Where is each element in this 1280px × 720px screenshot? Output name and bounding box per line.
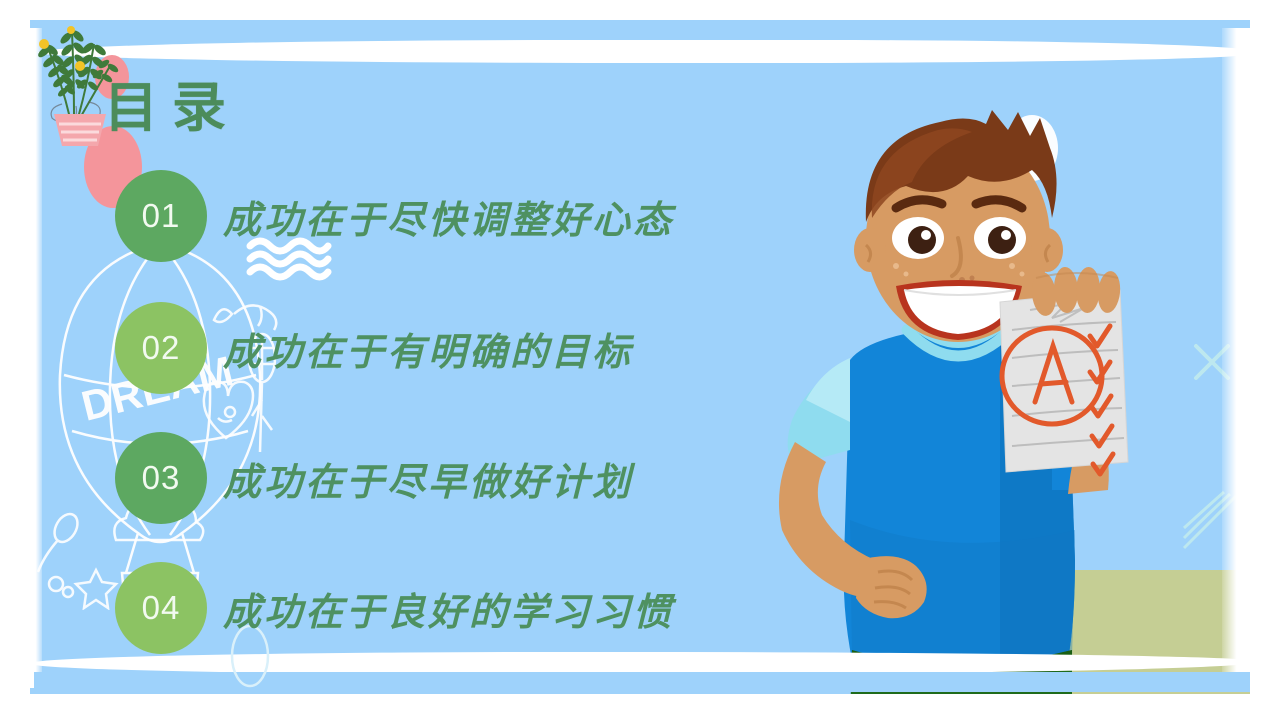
border-right-brush bbox=[1222, 28, 1252, 690]
toc-label-01: 成功在于尽快调整好心态 bbox=[223, 189, 674, 244]
toc-number-badge-03: 03 bbox=[115, 432, 207, 524]
border-top-brush bbox=[38, 40, 1253, 63]
border-right bbox=[1250, 0, 1280, 720]
toc-item-01[interactable]: 01 成功在于尽快调整好心态 bbox=[115, 170, 674, 262]
toc-item-04[interactable]: 04 成功在于良好的学习习惯 bbox=[115, 562, 674, 654]
border-bottom-outer bbox=[0, 694, 1280, 720]
toc-number-badge-02: 02 bbox=[115, 302, 207, 394]
page-title: 目录 bbox=[104, 63, 240, 142]
wave-lines-icon bbox=[246, 237, 332, 281]
toc-number-badge-01: 01 bbox=[115, 170, 207, 262]
boy-illustration bbox=[700, 90, 1280, 720]
bottom-blue-strip bbox=[34, 672, 1250, 692]
toc-label-03: 成功在于尽早做好计划 bbox=[223, 451, 633, 506]
toc-number-badge-04: 04 bbox=[115, 562, 207, 654]
border-top-outer bbox=[0, 0, 1280, 20]
toc-item-03[interactable]: 03 成功在于尽早做好计划 bbox=[115, 432, 633, 524]
toc-label-02: 成功在于有明确的目标 bbox=[223, 321, 633, 376]
presentation-slide: DREAM bbox=[0, 0, 1280, 720]
toc-label-04: 成功在于良好的学习习惯 bbox=[223, 581, 674, 636]
toc-item-02[interactable]: 02 成功在于有明确的目标 bbox=[115, 302, 633, 394]
